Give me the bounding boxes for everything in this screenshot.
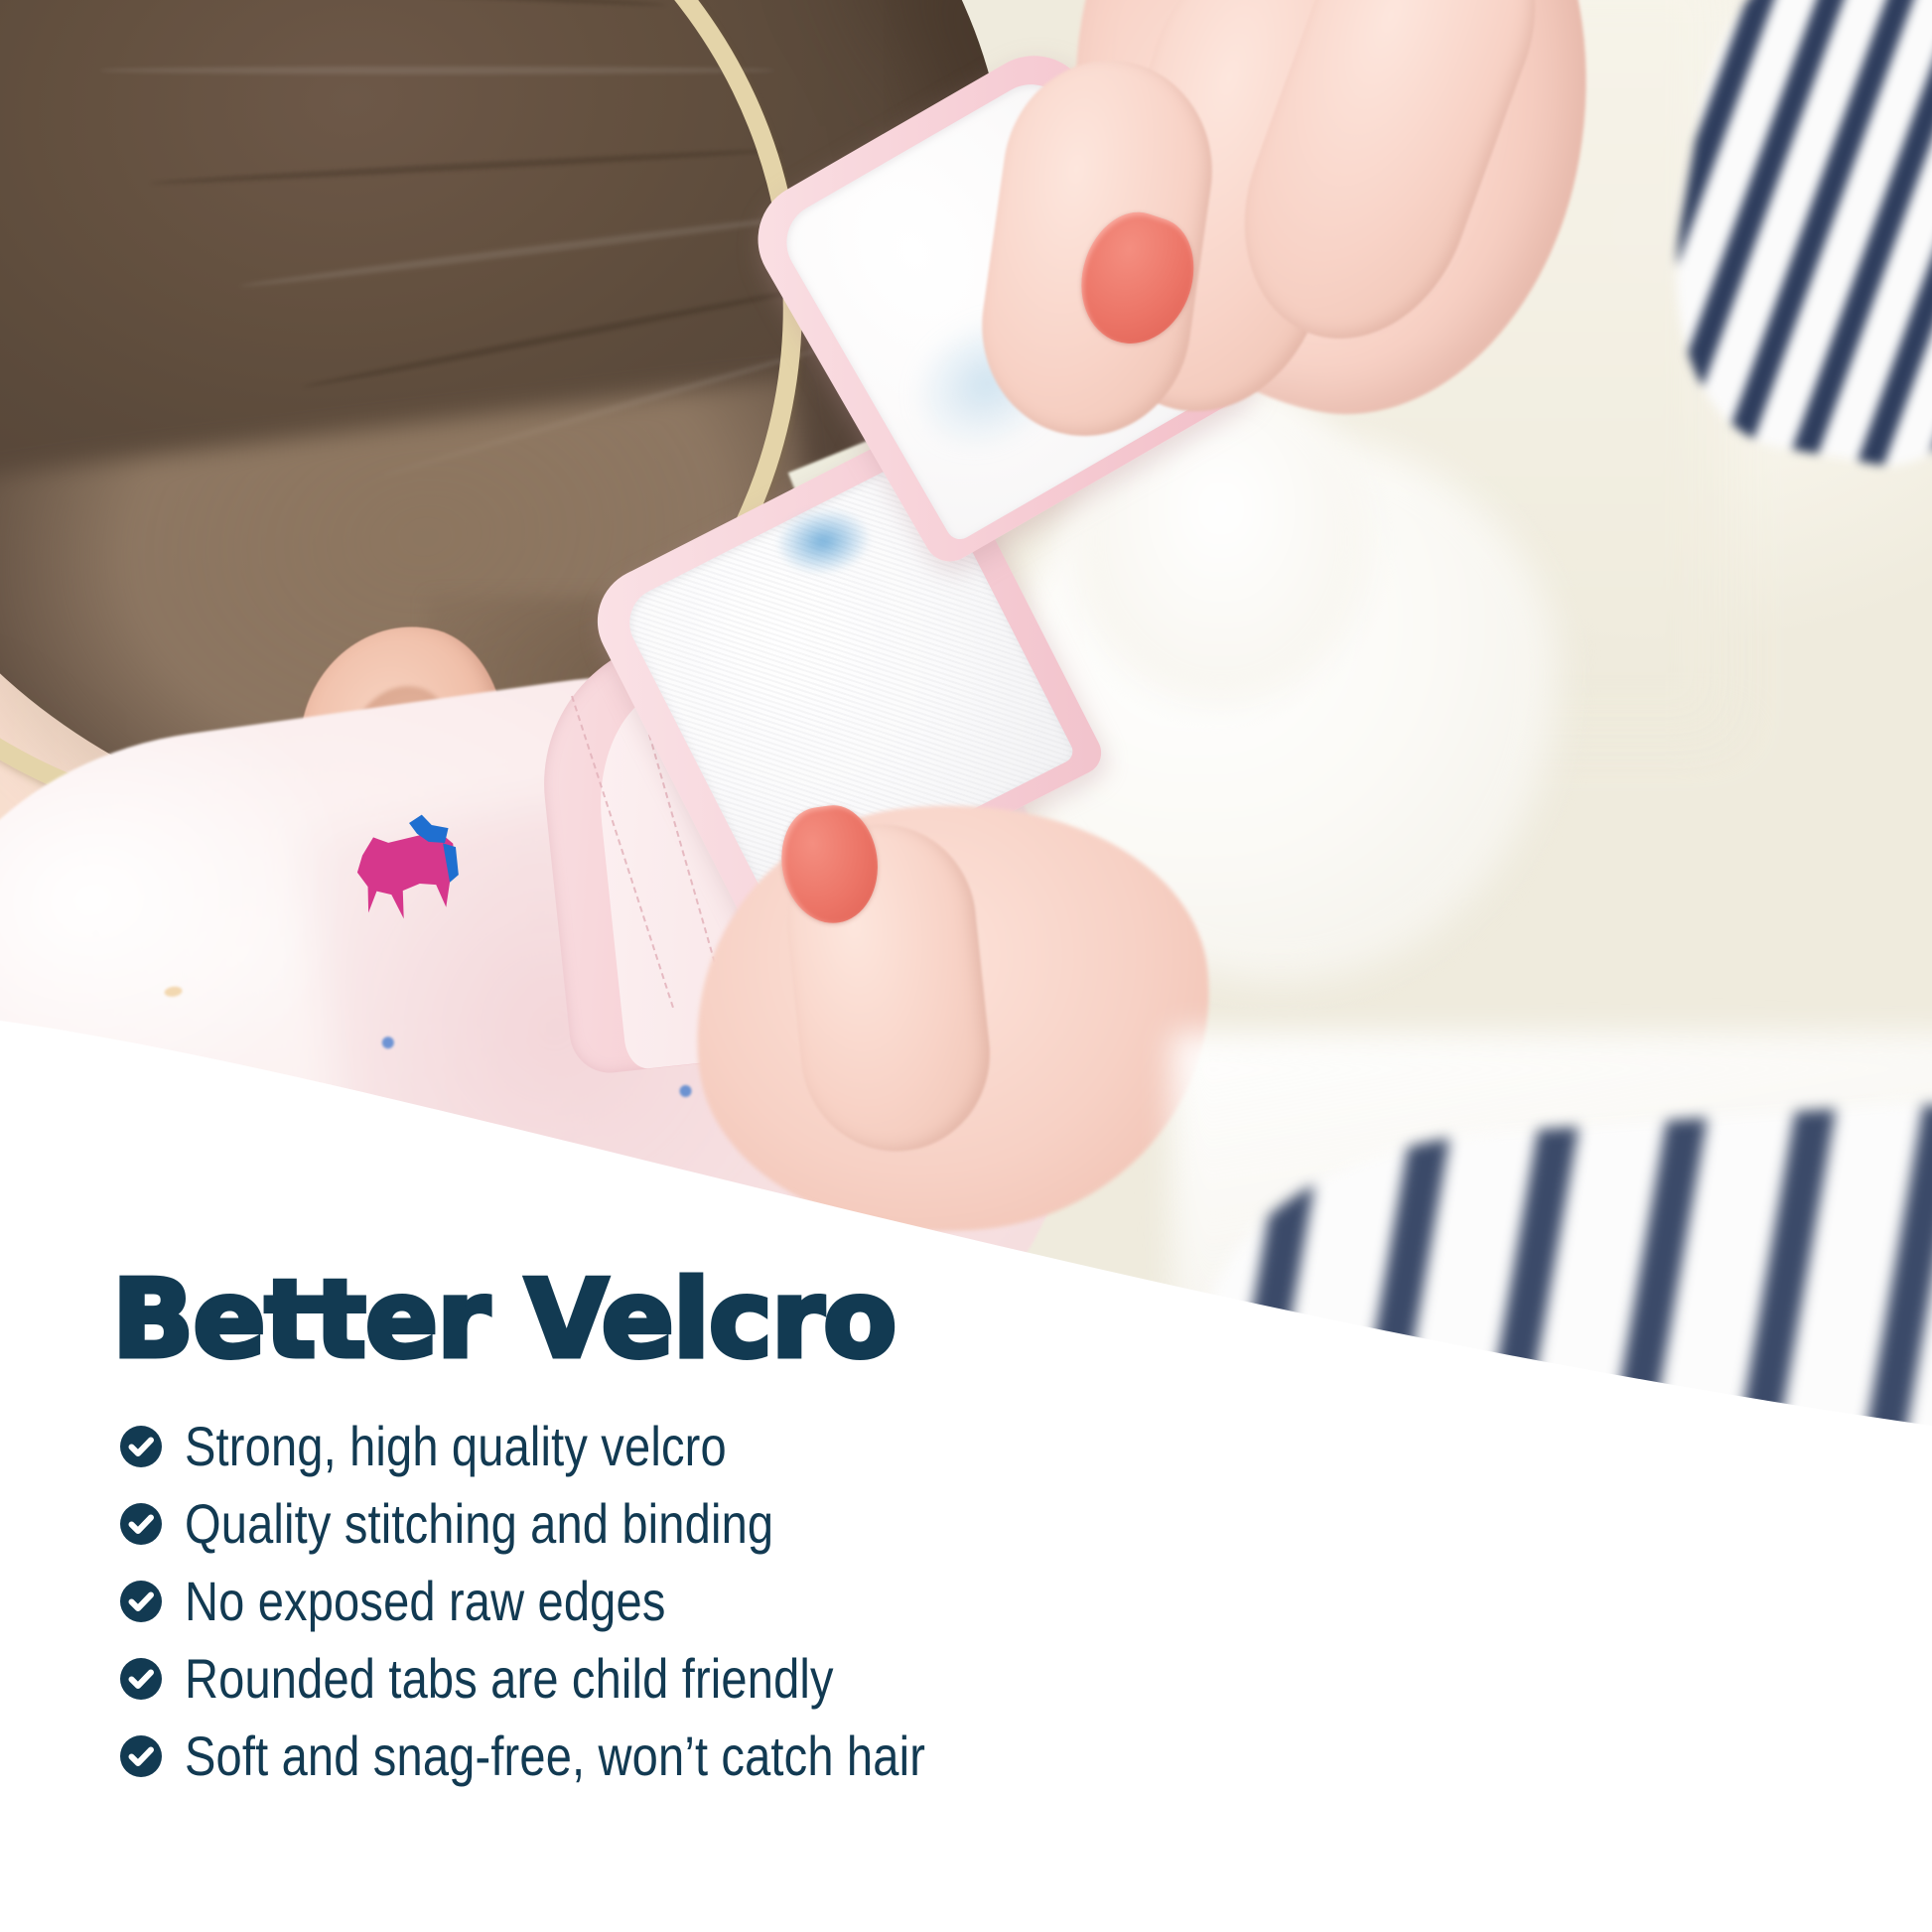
feature-list: Strong, high quality velcro Quality stit…: [119, 1408, 1608, 1795]
product-feature-card: Better Velcro Strong, high quality velcr…: [0, 0, 1932, 1932]
check-circle-icon: [119, 1734, 163, 1778]
list-item-label: Strong, high quality velcro: [185, 1419, 727, 1474]
check-circle-icon: [119, 1580, 163, 1623]
list-item: Strong, high quality velcro: [119, 1408, 1608, 1485]
check-circle-icon: [119, 1502, 163, 1546]
list-item: Soft and snag-free, won’t catch hair: [119, 1718, 1608, 1795]
list-item-label: Soft and snag-free, won’t catch hair: [185, 1728, 925, 1784]
list-item: No exposed raw edges: [119, 1563, 1608, 1640]
page-title: Better Velcro: [112, 1267, 896, 1374]
check-circle-icon: [119, 1657, 163, 1701]
list-item: Rounded tabs are child friendly: [119, 1640, 1608, 1718]
list-item-label: Quality stitching and binding: [185, 1496, 773, 1552]
check-circle-icon: [119, 1425, 163, 1468]
panel-content: Better Velcro Strong, high quality velcr…: [0, 0, 1932, 1932]
list-item-label: Rounded tabs are child friendly: [185, 1651, 834, 1707]
list-item-label: No exposed raw edges: [185, 1574, 666, 1629]
list-item: Quality stitching and binding: [119, 1485, 1608, 1563]
